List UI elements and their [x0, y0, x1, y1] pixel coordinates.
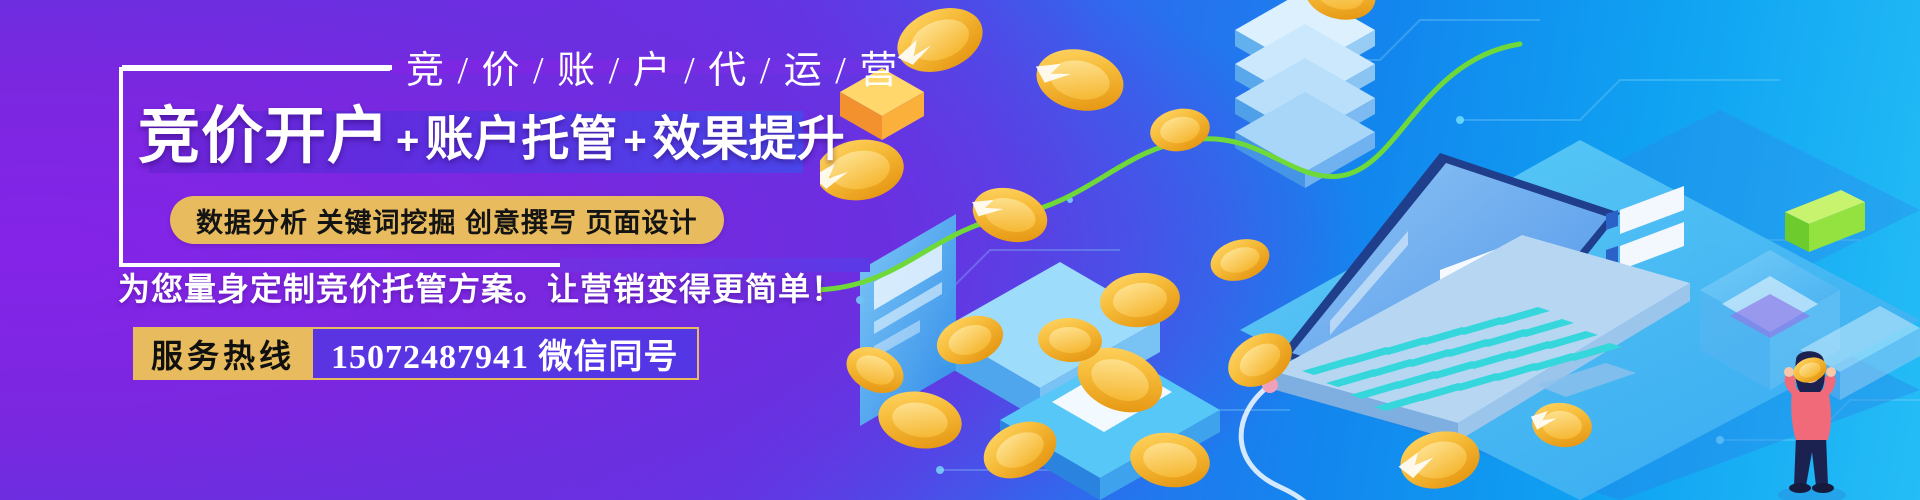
hotline-number[interactable]: 15072487941 微信同号 — [313, 327, 699, 380]
server-stack-icon — [1235, 0, 1375, 188]
headline-part-3: 效果提升 — [653, 116, 845, 164]
services-pill: 数据分析 关键词挖掘 创意撰写 页面设计 — [170, 196, 724, 244]
laptop-icon — [1241, 153, 1710, 500]
desk-surface-icon — [1240, 140, 1920, 500]
eyebrow-text: 竞 / 价 / 账 / 户 / 代 / 运 / 营 — [406, 38, 899, 94]
green-card-icon — [1785, 190, 1865, 252]
hotline-label: 服务热线 — [133, 327, 313, 380]
banner-text-content: 竞 / 价 / 账 / 户 / 代 / 运 / 营 竞价开户 + 账户托管 + … — [0, 0, 960, 500]
services-pill-text: 数据分析 关键词挖掘 创意撰写 页面设计 — [196, 201, 698, 240]
eyebrow-rule — [122, 65, 392, 70]
platform-blocks-icon — [940, 262, 1220, 500]
headline-part-2: 账户托管 — [425, 116, 617, 164]
glass-cube-icon — [1700, 250, 1840, 390]
headline-part-1: 竞价开户 — [138, 106, 390, 168]
subtitle-text: 为您量身定制竞价托管方案。让营销变得更简单！ — [118, 264, 844, 310]
promo-banner: 竞 / 价 / 账 / 户 / 代 / 运 / 营 竞价开户 + 账户托管 + … — [0, 0, 1920, 500]
headline-block: 竞价开户 + 账户托管 + 效果提升 — [149, 111, 856, 173]
headline: 竞价开户 + 账户托管 + 效果提升 — [138, 106, 845, 168]
headline-plus-2: + — [617, 121, 652, 161]
hotline-bar: 服务热线 15072487941 微信同号 — [133, 327, 699, 380]
headline-plus-1: + — [390, 121, 425, 161]
person-with-coin-icon — [1778, 351, 1846, 500]
